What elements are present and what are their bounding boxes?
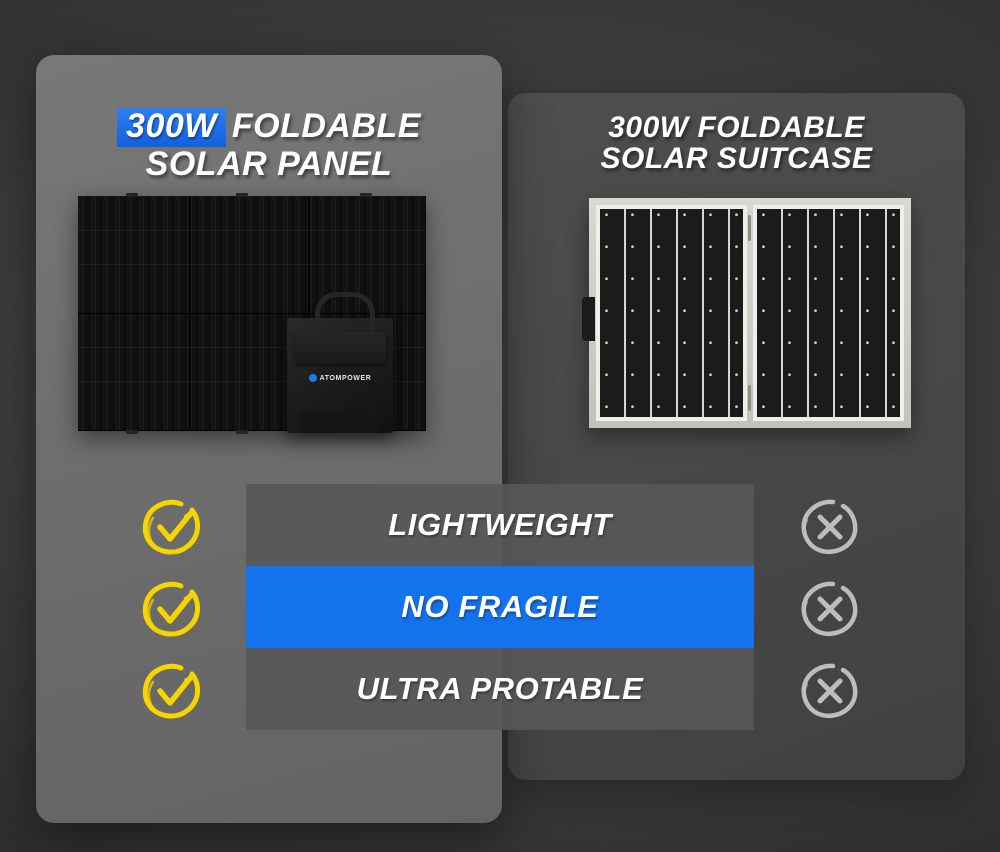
- panel-tab: [236, 193, 248, 197]
- bag-handle: [315, 292, 375, 331]
- brush-circle-cross-icon: [795, 486, 865, 568]
- panel-half-top: [78, 196, 426, 314]
- right-verdict-column: [795, 486, 865, 732]
- panel-tab: [360, 193, 372, 197]
- left-title-line1-rest: FOLDABLE: [232, 107, 421, 145]
- suitcase-hinge: [748, 215, 751, 241]
- suitcase-handle: [582, 297, 595, 341]
- panel-cell-line: [78, 264, 426, 265]
- left-product-title: 300WFOLDABLE SOLAR PANEL: [56, 108, 482, 183]
- solar-cell-grid: [757, 209, 900, 417]
- feature-label: NO FRAGILE: [401, 589, 598, 625]
- brush-circle-cross-icon: [795, 650, 865, 732]
- left-title-line2: SOLAR PANEL: [56, 147, 482, 182]
- solar-cell-grid: [600, 209, 743, 417]
- feature-row: LIGHTWEIGHT: [246, 484, 754, 566]
- feature-row: ULTRA PROTABLE: [246, 648, 754, 730]
- bag-brand-logo: ATOMPOWER: [287, 374, 393, 382]
- panel-tab: [126, 430, 138, 434]
- brush-circle-check-icon: [138, 486, 208, 568]
- left-title-wattage-badge: 300W: [117, 108, 226, 147]
- suitcase-right-wing: [753, 205, 904, 421]
- brush-circle-cross-icon: [795, 568, 865, 650]
- panel-cell-line: [78, 230, 426, 231]
- right-title-line2: SOLAR SUITCASE: [528, 143, 945, 174]
- suitcase-hinge: [748, 385, 751, 411]
- bag-pocket: [294, 332, 386, 364]
- feature-rows: LIGHTWEIGHT NO FRAGILE ULTRA PROTABLE: [246, 484, 754, 730]
- feature-row: NO FRAGILE: [246, 566, 754, 648]
- atompower-mark-icon: [309, 374, 317, 382]
- right-title-line1: 300W FOLDABLE: [528, 112, 945, 143]
- panel-tab: [126, 193, 138, 197]
- brush-circle-check-icon: [138, 650, 208, 732]
- comparison-infographic: 300WFOLDABLE SOLAR PANEL 300W FOLDABLE S…: [0, 0, 1000, 852]
- right-product-image: [589, 198, 911, 428]
- bag-brand-text: ATOMPOWER: [320, 375, 372, 382]
- suitcase-left-wing: [596, 205, 747, 421]
- panel-tab: [236, 430, 248, 434]
- feature-label: ULTRA PROTABLE: [357, 671, 644, 707]
- brush-circle-check-icon: [138, 568, 208, 650]
- bag-base: [301, 411, 379, 433]
- right-product-title: 300W FOLDABLE SOLAR SUITCASE: [528, 112, 945, 174]
- carry-bag: ATOMPOWER: [287, 318, 393, 433]
- panel-seam: [189, 196, 191, 431]
- left-verdict-column: [138, 486, 208, 732]
- feature-label: LIGHTWEIGHT: [388, 507, 612, 543]
